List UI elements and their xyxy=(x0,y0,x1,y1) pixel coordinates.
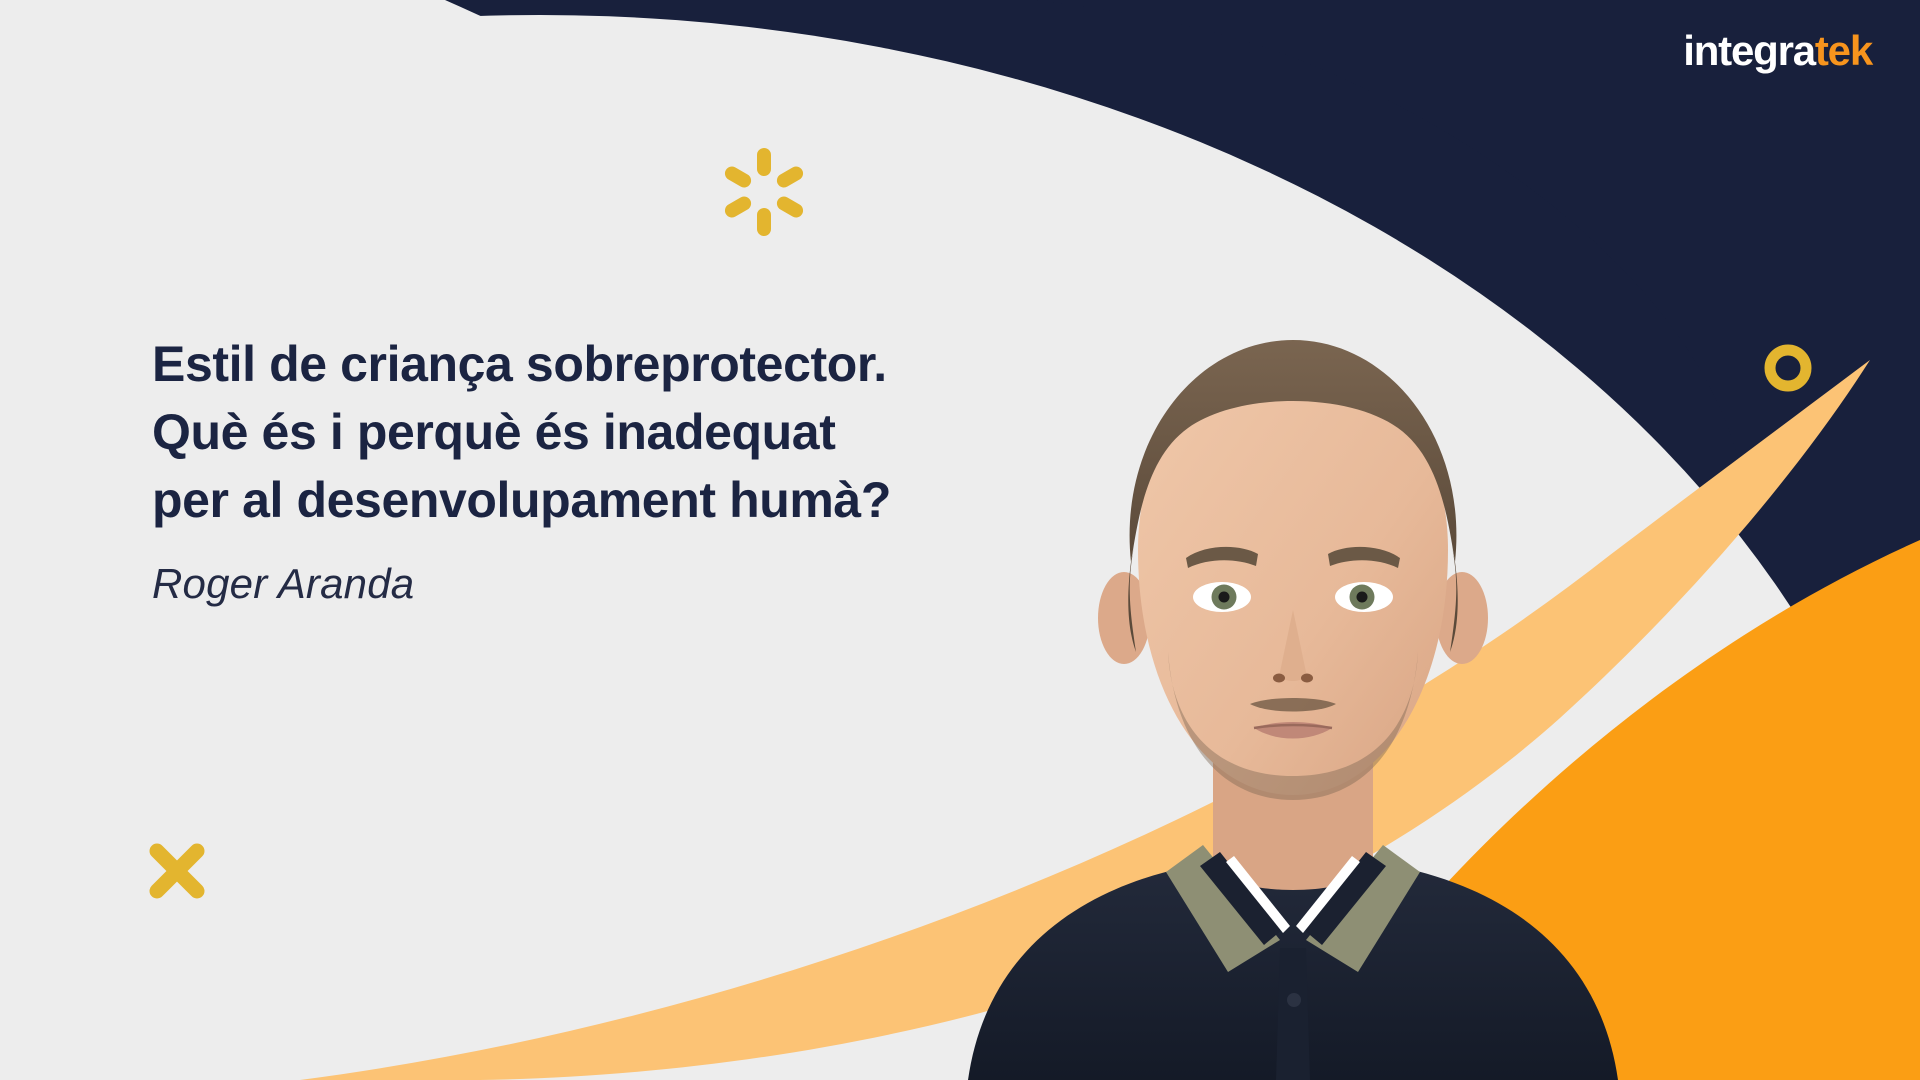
headline-line-2: Què és i perquè és inadequat xyxy=(152,398,1092,466)
cross-icon xyxy=(144,838,210,904)
integratek-logo[interactable]: integratek xyxy=(1683,30,1872,72)
portrait-pupil-left xyxy=(1219,592,1230,603)
portrait-pupil-right xyxy=(1357,592,1368,603)
headline-line-3: per al desenvolupament humà? xyxy=(152,466,1092,534)
sparkle-icon xyxy=(712,140,816,244)
page-title: Estil de criança sobreprotector. Què és … xyxy=(152,330,1092,534)
slide-canvas: integratek Estil de criança sobreprotect… xyxy=(0,0,1920,1080)
portrait-nostril-left xyxy=(1273,674,1285,683)
headline-line-1: Estil de criança sobreprotector. xyxy=(152,330,1092,398)
logo-primary-text: integra xyxy=(1683,27,1815,74)
text-block: Estil de criança sobreprotector. Què és … xyxy=(152,330,1092,608)
author-name: Roger Aranda xyxy=(152,560,1092,608)
portrait-placket xyxy=(1276,948,1310,1080)
portrait-nostril-right xyxy=(1301,674,1313,683)
logo-accent-text: tek xyxy=(1815,27,1872,74)
portrait-button xyxy=(1287,993,1301,1007)
ring-icon xyxy=(1762,342,1814,394)
